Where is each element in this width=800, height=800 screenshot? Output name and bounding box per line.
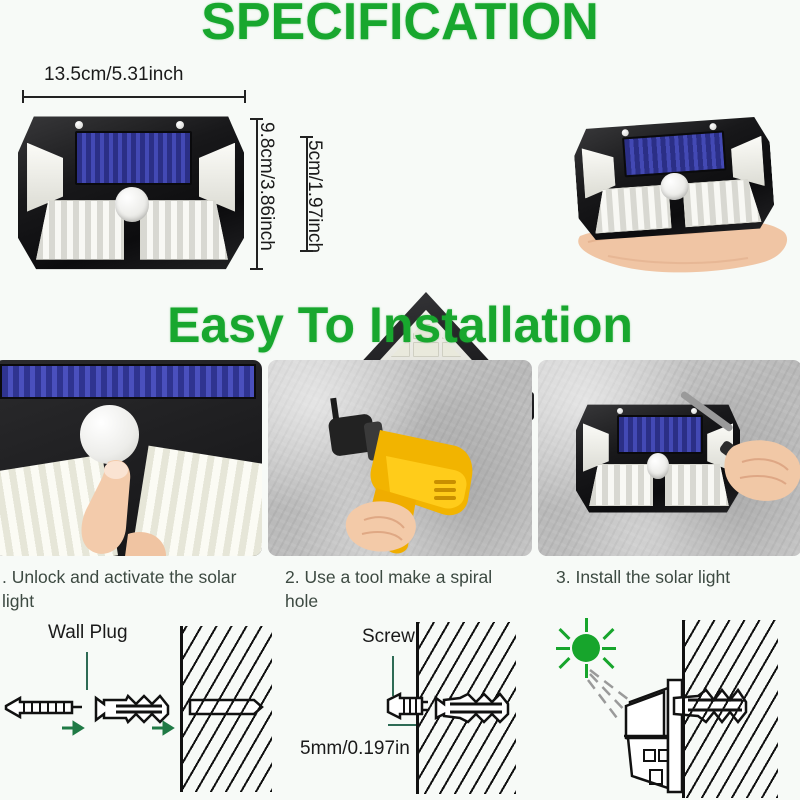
install-step-3-caption: 3. Install the solar light: [556, 566, 796, 590]
install-step-2-photo: [268, 360, 532, 556]
mounted-light-diagram: [546, 618, 800, 800]
product-on-hand: [572, 111, 776, 244]
dimension-width-tick-right: [244, 90, 246, 103]
page-title-easy-installation: Easy To Installation: [0, 296, 800, 354]
product-figure-front-view: [18, 110, 244, 274]
motion-sensor-dome: [115, 187, 149, 221]
solar-panel-closeup: [0, 364, 256, 399]
dimension-height-label: 9.8cm/3.86inch: [255, 122, 277, 251]
install-step-2-caption: 2. Use a tool make a spiral hole: [285, 566, 520, 613]
drill-illustration: [268, 360, 532, 556]
dimension-height-line: [256, 118, 258, 270]
screw-parts: [300, 618, 540, 800]
install-step-1-caption: . Unlock and activate the solar light: [2, 566, 237, 613]
dimension-width-line: [22, 96, 246, 98]
motion-sensor-dome: [647, 453, 670, 479]
wall-cross-section: [180, 626, 272, 792]
screw-diagram: Screw 5mm/0.197in: [300, 618, 540, 800]
dimension-width-tick-left: [22, 90, 24, 103]
pointing-finger-illustration: [74, 454, 194, 556]
wall-cross-section: [682, 620, 778, 798]
install-step-1-photo: [0, 360, 262, 556]
led-array-right: [140, 200, 228, 259]
product-figure-hand-scale: [562, 116, 794, 284]
led-array-right: [682, 178, 761, 227]
dimension-depth-line: [306, 136, 308, 252]
dimension-depth-tick-bottom: [300, 250, 313, 252]
wall-plug-diagram: Wall Plug: [0, 618, 280, 800]
page-title-specification: SPECIFICATION: [0, 0, 800, 52]
dimension-height-tick-top: [250, 118, 263, 120]
led-array-left: [592, 184, 671, 233]
solar-panel: [622, 130, 727, 177]
specification-infographic: SPECIFICATION 13.5cm/5.31inch 9.8cm/3.86…: [0, 0, 800, 800]
solar-panel: [75, 131, 192, 184]
wall-hatching: [183, 626, 272, 792]
dimension-depth-tick-top: [300, 136, 313, 138]
install-step-3-photo: [538, 360, 800, 556]
dimension-width-label: 13.5cm/5.31inch: [44, 64, 183, 86]
wall-hatching: [685, 620, 778, 798]
dimension-height-tick-bottom: [250, 268, 263, 270]
led-array-left: [589, 464, 653, 507]
screwdriver-and-hand-illustration: [668, 398, 800, 518]
led-array-left: [36, 200, 124, 259]
